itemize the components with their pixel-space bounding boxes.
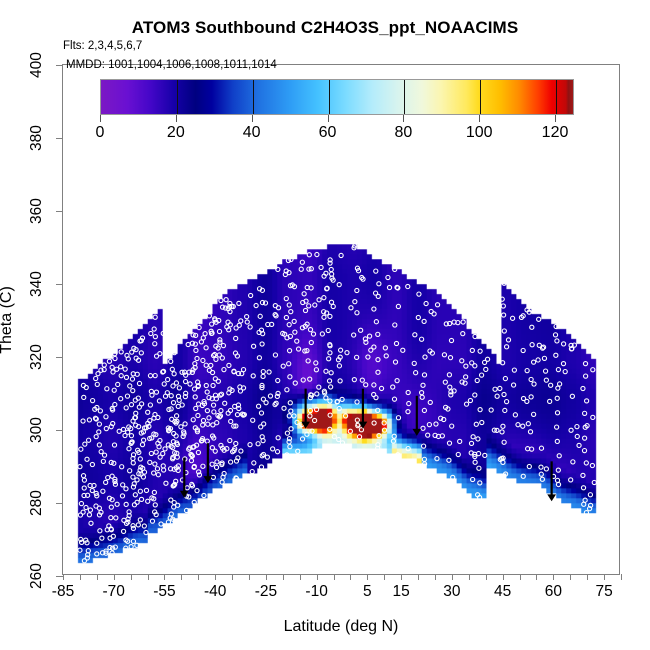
mmdd-annotation: MMDD: 1001,1004,1006,1008,1011,1014 [66,59,277,71]
colorbar-box [100,79,574,115]
y-axis-label: Theta (C) [0,286,16,354]
colorbar-tick-label: 40 [243,124,261,142]
colorbar-tick-label: 60 [319,124,337,142]
x-axis-tick [604,574,605,580]
x-axis-tick [114,574,115,580]
colorbar-tick-label: 20 [167,124,185,142]
x-axis-tick-label: -10 [305,583,327,601]
colorbar-separator [404,80,405,114]
colorbar-tick [479,115,480,122]
x-axis-tick-label: -40 [204,583,226,601]
x-axis-tick [63,574,64,580]
x-axis-tick [570,574,571,580]
y-axis-tick-label: 400 [28,52,46,78]
colorbar-tick [555,115,556,122]
x-axis-tick-label: 15 [393,583,410,601]
y-axis-tick-label: 260 [28,563,46,589]
x-axis-tick [418,574,419,580]
x-axis-tick-label: 60 [545,583,562,601]
x-axis-tick [520,574,521,580]
x-axis-tick-label: 30 [443,583,460,601]
x-axis-tick [536,574,537,580]
heatmap-canvas [63,65,619,574]
y-axis-tick-label: 300 [28,417,46,443]
x-axis-tick [283,574,284,580]
x-axis-tick [435,574,436,580]
page-title: ATOM3 Southbound C2H4O3S_ppt_NOAACIMS [0,18,650,38]
y-axis-tick [56,430,63,431]
x-axis-tick [621,574,622,580]
colorbar-separator [177,80,178,114]
y-axis-tick-label: 320 [28,344,46,370]
y-axis-tick [56,357,63,358]
y-axis-tick [56,138,63,139]
x-axis-tick-label: 5 [363,583,372,601]
x-axis-tick [215,574,216,580]
x-axis-tick [317,574,318,580]
x-axis-tick [587,574,588,580]
y-axis-tick [56,284,63,285]
x-axis-tick [367,574,368,580]
x-axis-tick [131,574,132,580]
x-axis-tick-label: -55 [153,583,175,601]
x-axis-tick [334,574,335,580]
x-axis-tick-label: 45 [494,583,511,601]
x-axis-tick [300,574,301,580]
colorbar-tick [403,115,404,122]
x-axis-tick [469,574,470,580]
x-axis-tick-label: 75 [595,583,612,601]
colorbar-separator [253,80,254,114]
y-axis-tick-label: 340 [28,271,46,297]
colorbar: 020406080100120 [100,79,574,115]
x-axis-tick [164,574,165,580]
colorbar-tick-label: 100 [466,124,493,142]
x-axis-tick [232,574,233,580]
y-axis-tick-label: 360 [28,198,46,224]
colorbar-tick-label: 120 [542,124,569,142]
x-axis-tick [80,574,81,580]
colorbar-tick [100,115,101,122]
y-axis-tick-label: 380 [28,125,46,151]
x-axis-tick [384,574,385,580]
colorbar-tick-label: 0 [96,124,105,142]
x-axis-tick [553,574,554,580]
x-axis-tick [97,574,98,580]
y-axis-tick [56,65,63,66]
x-axis-tick [350,574,351,580]
colorbar-separator [480,80,481,114]
x-axis-tick [181,574,182,580]
colorbar-separator [556,80,557,114]
x-axis-tick-label: -70 [103,583,125,601]
x-axis-tick [249,574,250,580]
flights-annotation: Flts: 2,3,4,5,6,7 [63,40,142,52]
y-axis-tick [56,503,63,504]
colorbar-tick [252,115,253,122]
x-axis-tick [486,574,487,580]
x-axis-tick-label: -25 [255,583,277,601]
colorbar-gradient [101,80,573,114]
colorbar-tick-label: 80 [394,124,412,142]
y-axis-tick [56,576,63,577]
x-axis-tick-label: -85 [52,583,74,601]
y-axis-tick [56,211,63,212]
colorbar-tick [176,115,177,122]
x-axis-tick [401,574,402,580]
x-axis-tick [503,574,504,580]
x-axis-label: Latitude (deg N) [62,618,620,636]
x-axis-tick [148,574,149,580]
x-axis-tick [198,574,199,580]
x-axis-tick [452,574,453,580]
y-axis-tick-label: 280 [28,490,46,516]
colorbar-tick [328,115,329,122]
x-axis-tick [266,574,267,580]
colorbar-separator [329,80,330,114]
plot-frame: 260280300320340360380400-85-70-55-40-25-… [62,64,620,575]
